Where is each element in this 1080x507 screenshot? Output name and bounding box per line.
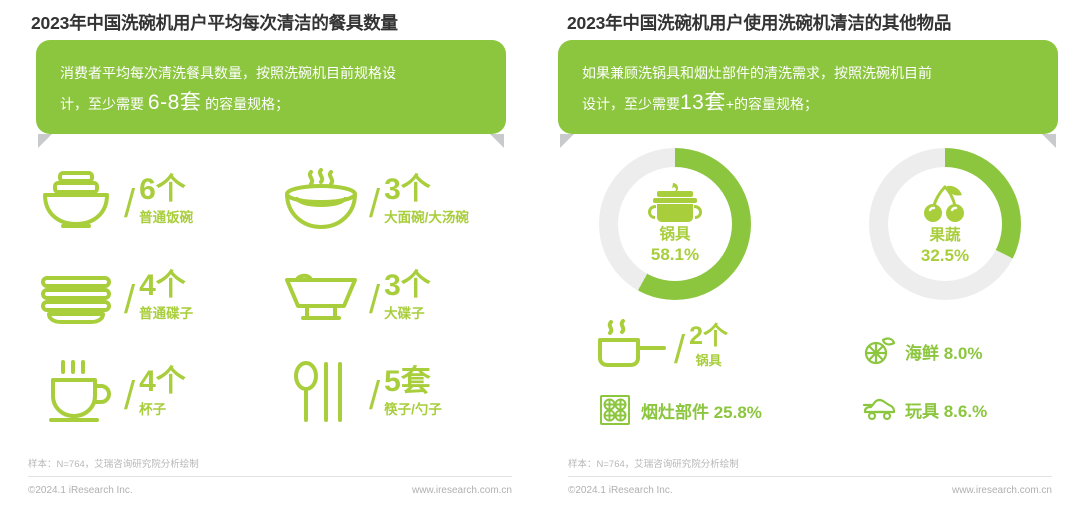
- banner-tail-left: [38, 134, 52, 148]
- right-banner: 如果兼顾洗锅具和烟灶部件的清洗需求，按照洗碗机目前 设计，至少需要13套+的容量…: [558, 40, 1058, 134]
- donut-chart: 锅具 58.1%: [540, 148, 810, 308]
- stat-item-toy: 玩具 8.6.%: [862, 396, 987, 422]
- dish-value: 5套 筷子/勺子: [384, 366, 442, 419]
- sample-note: 样本：N=764，艾瑞咨询研究院分析绘制: [568, 456, 739, 470]
- footer-divider: [28, 476, 512, 477]
- dish-count: 4个: [139, 270, 186, 302]
- dish-item: / 3个 大面碗/大汤碗: [275, 152, 520, 248]
- dish-value: 4个 杯子: [139, 366, 186, 419]
- separator-slash: /: [369, 278, 380, 323]
- dish-label: 大碟子: [384, 302, 425, 322]
- cup-icon: [30, 360, 122, 424]
- separator-slash: /: [674, 328, 685, 373]
- copyright-text: ©2024.1 iResearch Inc.: [28, 485, 133, 496]
- donut-percent: 32.5%: [921, 245, 969, 266]
- right-left-column: / 2个 锅具: [592, 318, 762, 426]
- rice-bowl-icon: [30, 168, 122, 232]
- dish-label: 大面碗/大汤碗: [384, 206, 469, 226]
- website-url[interactable]: www.iresearch.com.cn: [412, 485, 512, 496]
- pan-label: 锅具: [696, 350, 722, 369]
- sample-note: 样本：N=764，艾瑞咨询研究院分析绘制: [28, 456, 199, 470]
- banner-tail-left: [560, 134, 574, 148]
- dish-item: / 4个 杯子: [30, 344, 275, 440]
- dish-item: / 3个 大碟子: [275, 248, 520, 344]
- copyright-text: ©2024.1 iResearch Inc.: [568, 485, 673, 496]
- dish-count: 4个: [139, 366, 186, 398]
- dish-count: 6个: [139, 174, 186, 206]
- separator-slash: /: [124, 278, 135, 323]
- donut-label: 果蔬: [929, 227, 960, 245]
- banner-line-1: 消费者平均每次清洗餐具数量，按照洗碗机目前规格设: [60, 58, 484, 88]
- dish-count: 3个: [384, 174, 431, 206]
- dish-item: / 6个 普通饭碗: [30, 152, 275, 248]
- dish-value: 6个 普通饭碗: [139, 174, 193, 227]
- pan-value: 2个 锅具: [689, 323, 728, 370]
- page-title: 2023年中国洗碗机用户使用洗碗机清洁的其他物品: [567, 10, 951, 35]
- banner-line-2: 计，至少需要 6-8套 的容量规格；: [60, 88, 484, 119]
- donut-ring: 果蔬 32.5%: [869, 148, 1021, 300]
- right-right-column: 海鲜 8.0% 玩具 8.6.%: [862, 336, 987, 422]
- saucepan-icon: [592, 318, 672, 374]
- banner-text: 如果兼顾洗锅具和烟灶部件的清洗需求，按照洗碗机目前 设计，至少需要13套+的容量…: [582, 58, 1036, 119]
- plate-stack-icon: [30, 264, 122, 328]
- dish-count: 5套: [384, 366, 431, 398]
- toy-car-icon: [862, 396, 896, 422]
- pan-count: 2个: [689, 323, 728, 351]
- dish-label: 普通饭碗: [139, 206, 193, 226]
- stat-text: 烟灶部件 25.8%: [641, 398, 762, 423]
- dish-value: 4个 普通碟子: [139, 270, 193, 323]
- dish-item: / 4个 普通碟子: [30, 248, 275, 344]
- donut-center: 果蔬 32.5%: [888, 167, 1002, 281]
- banner-tail-right: [490, 134, 504, 148]
- left-panel: 2023年中国洗碗机用户平均每次清洁的餐具数量 消费者平均每次清洗餐具数量，按照…: [0, 0, 540, 507]
- left-banner: 消费者平均每次清洗餐具数量，按照洗碗机目前规格设 计，至少需要 6-8套 的容量…: [36, 40, 506, 134]
- donut-chart: 果蔬 32.5%: [810, 148, 1080, 308]
- dish-label: 筷子/勺子: [384, 398, 442, 418]
- dish-count: 3个: [384, 270, 431, 302]
- banner-highlight-value: 13套: [680, 91, 726, 114]
- dish-item: / 5套 筷子/勺子: [275, 344, 520, 440]
- dish-label: 普通碟子: [139, 302, 193, 322]
- separator-slash: /: [124, 374, 135, 419]
- stove-burner-icon: [598, 394, 632, 426]
- banner-line-2-suffix: +的容量规格；: [726, 96, 818, 112]
- separator-slash: /: [124, 182, 135, 227]
- dish-label: 杯子: [139, 398, 166, 418]
- banner-line-2: 设计，至少需要13套+的容量规格；: [582, 88, 1036, 119]
- noodle-bowl-icon: [275, 168, 367, 232]
- pan-item: / 2个 锅具: [592, 318, 762, 374]
- stat-item-stove: 烟灶部件 25.8%: [598, 394, 762, 426]
- dishware-grid: / 6个 普通饭碗: [30, 152, 520, 440]
- infographic-stage: 2023年中国洗碗机用户平均每次清洁的餐具数量 消费者平均每次清洗餐具数量，按照…: [0, 0, 1080, 507]
- dish-value: 3个 大面碗/大汤碗: [384, 174, 469, 227]
- banner-highlight-value: 6-8套: [148, 91, 201, 114]
- donut-label: 锅具: [659, 226, 690, 244]
- dish-value: 3个 大碟子: [384, 270, 431, 323]
- stat-text: 海鲜 8.0%: [905, 339, 982, 364]
- banner-line-2-prefix: 计，至少需要: [60, 96, 148, 112]
- right-panel: 2023年中国洗碗机用户使用洗碗机清洁的其他物品 如果兼顾洗锅具和烟灶部件的清洗…: [540, 0, 1080, 507]
- large-plate-icon: [275, 264, 367, 328]
- website-url[interactable]: www.iresearch.com.cn: [952, 485, 1052, 496]
- banner-line-1: 如果兼顾洗锅具和烟灶部件的清洗需求，按照洗碗机目前: [582, 58, 1036, 88]
- separator-slash: /: [369, 374, 380, 419]
- donut-percent: 58.1%: [651, 244, 699, 265]
- banner-tail-right: [1042, 134, 1056, 148]
- seafood-icon: [862, 336, 896, 366]
- donut-center: 锅具 58.1%: [618, 167, 732, 281]
- footer-divider: [568, 476, 1052, 477]
- banner-line-2-prefix: 设计，至少需要: [582, 96, 680, 112]
- cutlery-icon: [275, 360, 367, 424]
- donut-ring: 锅具 58.1%: [599, 148, 751, 300]
- stat-text: 玩具 8.6.%: [905, 397, 987, 422]
- page-title: 2023年中国洗碗机用户平均每次清洁的餐具数量: [31, 10, 398, 35]
- stock-pot-icon: [646, 182, 704, 224]
- banner-text: 消费者平均每次清洗餐具数量，按照洗碗机目前规格设 计，至少需要 6-8套 的容量…: [60, 58, 484, 119]
- donut-chart-group: 锅具 58.1%: [540, 148, 1080, 308]
- cherries-icon: [917, 181, 973, 225]
- banner-line-2-suffix: 的容量规格；: [201, 96, 289, 112]
- separator-slash: /: [369, 182, 380, 227]
- stat-item-seafood: 海鲜 8.0%: [862, 336, 987, 366]
